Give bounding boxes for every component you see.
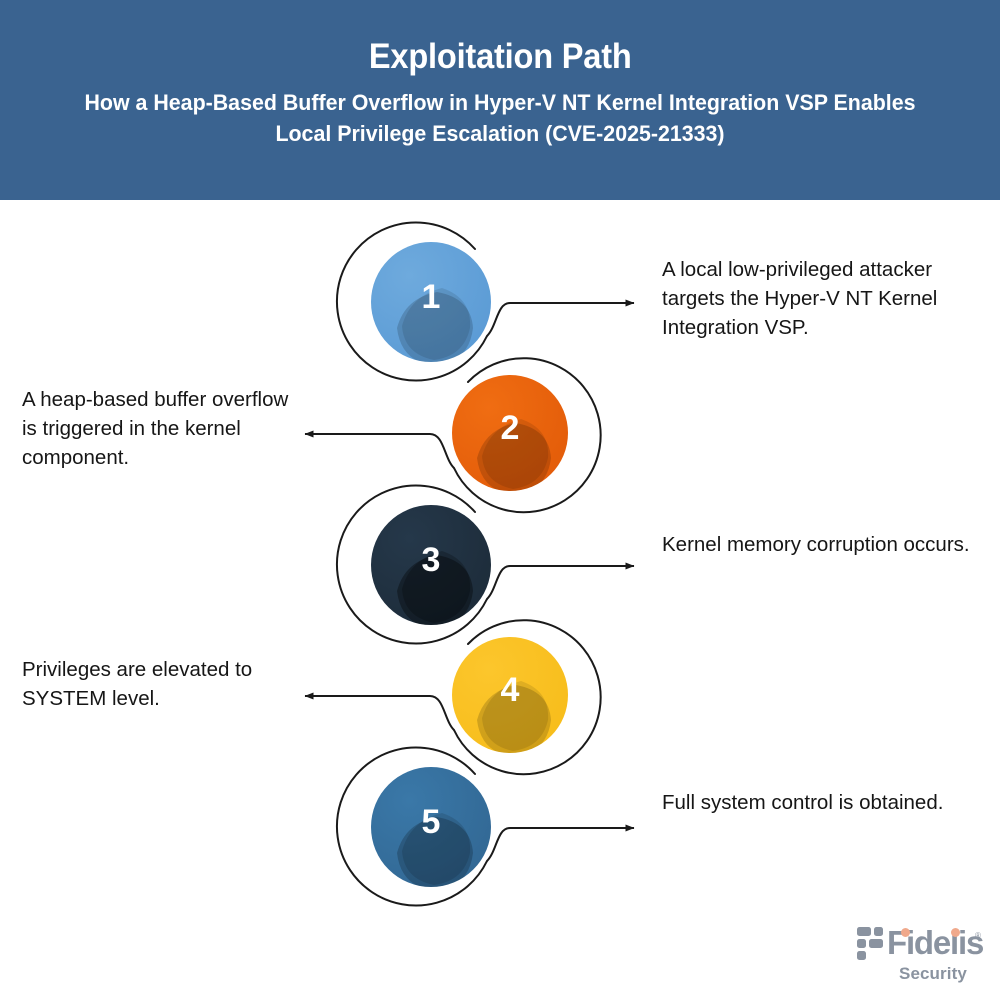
page-subtitle: How a Heap-Based Buffer Overflow in Hype…: [82, 87, 918, 151]
fidelis-security-logo: Fidelis ® Security: [857, 925, 985, 987]
exploitation-path-diagram: 1 2 3 4 5 A local low-privileged attacke…: [0, 200, 1000, 1005]
step-description-2: A heap-based buffer overflow is triggere…: [22, 385, 297, 472]
logo-mark-block-5: [857, 951, 866, 960]
logo-mark-block-2: [874, 927, 883, 936]
step-node-3[interactable]: [371, 505, 491, 629]
page-title: Exploitation Path: [369, 38, 632, 77]
logo-mark-block-4: [869, 939, 883, 948]
logo-tagline-text: Security: [899, 964, 967, 984]
logo-mark-block-3: [857, 939, 866, 948]
step-description-3: Kernel memory corruption occurs.: [662, 530, 972, 559]
logo-registered-mark: ®: [975, 931, 981, 940]
header-banner: Exploitation Path How a Heap-Based Buffe…: [0, 0, 1000, 200]
connector-2: [305, 434, 454, 468]
connector-5: [487, 828, 634, 861]
step-description-1: A local low-privileged attacker targets …: [662, 255, 982, 342]
step-node-5[interactable]: [371, 767, 491, 891]
step-description-5: Full system control is obtained.: [662, 788, 972, 817]
step-node-2[interactable]: [452, 375, 568, 495]
logo-mark-block-1: [857, 927, 871, 936]
connector-4: [305, 696, 454, 730]
logo-accent-dot-1: [901, 928, 910, 937]
logo-accent-dot-2: [951, 928, 960, 937]
connector-3: [487, 566, 634, 599]
step-node-1[interactable]: [371, 242, 491, 366]
step-node-4[interactable]: [452, 637, 568, 757]
connector-1: [487, 303, 634, 336]
logo-wordmark-row: Fidelis ®: [857, 925, 985, 963]
step-description-4: Privileges are elevated to SYSTEM level.: [22, 655, 297, 713]
